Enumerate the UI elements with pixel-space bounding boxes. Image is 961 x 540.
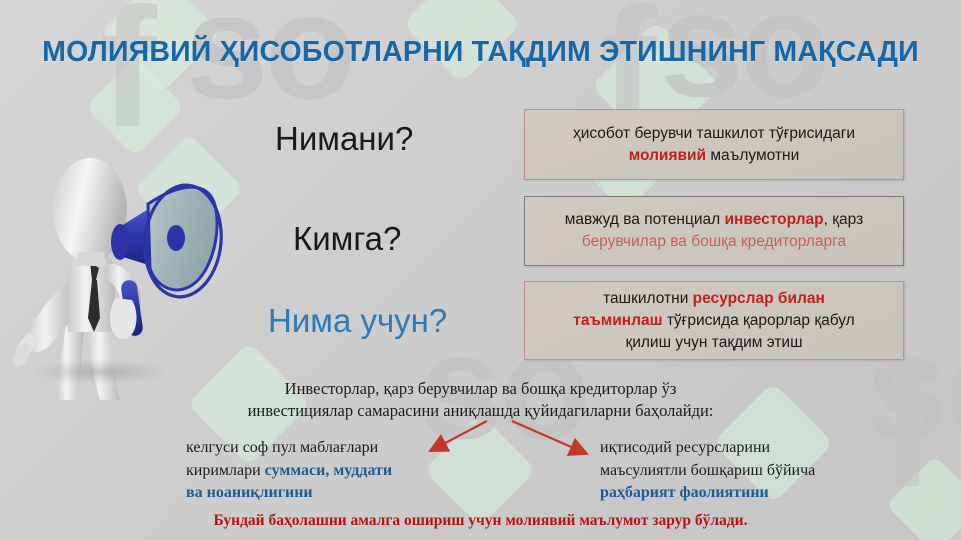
leg-left-line-1: келгуси соф пул маблағлари	[186, 437, 466, 460]
page-title: МОЛИЯВИЙ ҲИСОБОТЛАРНИ ТАҚДИМ ЭТИШНИНГ МА…	[0, 36, 961, 69]
box3-line1-pre: ташкилотни	[603, 290, 693, 307]
box1-line2-post: маълумотни	[706, 147, 799, 164]
leg-right-highlight: раҳбарият фаолиятини	[600, 484, 769, 501]
mannequin-with-megaphone-illustration	[0, 80, 240, 400]
question-2: Кимга?	[293, 220, 401, 258]
box1-highlight: молиявий	[629, 147, 706, 164]
leg-left-highlight-2: ва ноаниқлигини	[186, 484, 313, 501]
info-box-why: ташкилотни ресурслар билан таъминлаш тўғ…	[524, 281, 904, 360]
question-3: Нима учун?	[268, 302, 447, 340]
megaphone-center-dot	[167, 225, 185, 251]
info-box-what: ҳисобот берувчи ташкилот тўғрисидаги мол…	[524, 109, 904, 180]
box2-line1-pre: мавжуд ва потенциал	[565, 211, 725, 228]
leg-left-line-2-pre: киримлари	[186, 462, 265, 479]
arrow-right	[512, 421, 585, 453]
box3-highlight-2: таъминлаш	[573, 312, 662, 329]
info-box-whom: мавжуд ва потенциал инвесторлар, қарз бе…	[524, 196, 904, 266]
figure-right-hand	[110, 298, 137, 339]
figure-neck	[76, 252, 106, 266]
leg-right-line-2: маъсулиятли бошқариш бўйича	[600, 460, 900, 483]
box3-line2-post: тўғрисида қарорлар қабул	[663, 312, 855, 329]
box1-line1: ҳисобот берувчи ташкилот тўғрисидаги	[573, 125, 855, 142]
box3-highlight-1: ресурслар билан	[693, 290, 825, 307]
intro-line-2: инвестициялар самарасини аниқлашда қуйид…	[0, 400, 961, 422]
mannequin-svg	[0, 80, 240, 400]
intro-line-1: Инвесторлар, қарз берувчилар ва бошқа кр…	[0, 378, 961, 400]
footer-note: Бундай баҳолашни амалга ошириш учун моли…	[0, 512, 961, 530]
box2-line2: берувчилар ва бошқа кредиторларга	[582, 233, 846, 250]
leg-left-highlight-1: суммаси, муддати	[265, 462, 392, 479]
leg-text-left: келгуси соф пул маблағлари киримлари сум…	[186, 437, 466, 505]
leg-text-right: иқтисодий ресурсларини маъсулиятли бошқа…	[600, 437, 900, 505]
question-1: Нимани?	[275, 120, 413, 158]
leg-right-line-1: иқтисодий ресурсларини	[600, 437, 900, 460]
box3-line3: қилиш учун тақдим этиш	[625, 334, 802, 351]
intro-paragraph: Инвесторлар, қарз берувчилар ва бошқа кр…	[0, 378, 961, 423]
box2-highlight: инвесторлар	[725, 211, 824, 228]
slide-canvas: so so so so f f f МОЛИЯВИЙ ҲИСОБОТЛАРНИ …	[0, 0, 961, 540]
box2-line1-post: , қарз	[824, 211, 864, 228]
